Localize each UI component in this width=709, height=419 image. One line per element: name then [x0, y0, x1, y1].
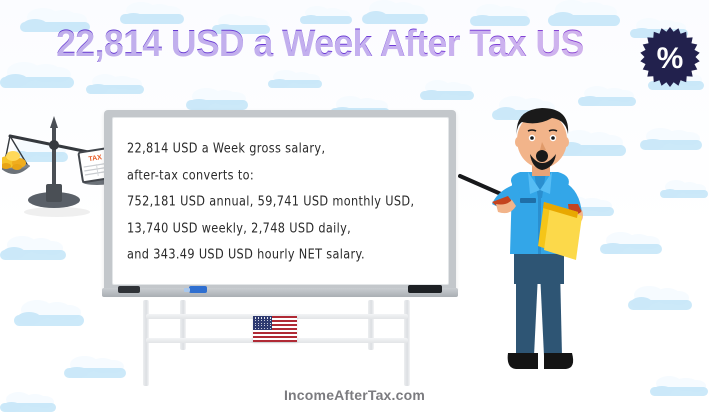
flag-canton [253, 316, 272, 330]
easel-leg-left [143, 300, 149, 386]
cloud [64, 356, 126, 380]
gold-coins [2, 151, 26, 170]
infographic-canvas: 22,814 USD a Week After Tax US % [0, 0, 709, 419]
right-shoe [544, 353, 573, 369]
left-shoe [508, 353, 538, 369]
percent-badge: % [639, 26, 701, 88]
whiteboard-tray [102, 288, 458, 297]
balance-scale-tax-vs-money: TAX [2, 108, 112, 220]
blue-marker [189, 286, 207, 293]
site-footer: IncomeAfterTax.com [0, 387, 709, 403]
teacher-pointing-illustration [458, 98, 648, 386]
cloud [660, 180, 708, 200]
right-ear [563, 137, 569, 147]
cloud [14, 300, 84, 328]
cloud [640, 128, 702, 152]
cloud [268, 70, 322, 90]
whiteboard-eraser [118, 286, 140, 293]
cloud [0, 236, 66, 262]
us-flag [253, 316, 297, 342]
whiteboard-surface: 22,814 USD a Week gross salary,after-tax… [112, 117, 449, 285]
page-title-text: 22,814 USD a Week After Tax US [56, 23, 584, 65]
left-ear [515, 137, 521, 147]
page-title: 22,814 USD a Week After Tax US [22, 24, 617, 64]
percent-symbol: % [657, 42, 684, 75]
easel-leg-right [404, 300, 410, 386]
mouth [536, 150, 548, 162]
cloud [186, 88, 248, 112]
whiteboard-line-5: and 343.49 USD USD hourly NET salary. [127, 240, 434, 271]
cloud [86, 74, 144, 96]
cloud [0, 62, 74, 90]
right-eye [551, 136, 555, 140]
whiteboard-frame: 22,814 USD a Week gross salary,after-tax… [104, 110, 456, 292]
whiteboard: 22,814 USD a Week gross salary,after-tax… [104, 110, 456, 300]
black-marker [408, 285, 442, 293]
shirt-pocket [520, 198, 536, 203]
left-eye [530, 136, 534, 140]
